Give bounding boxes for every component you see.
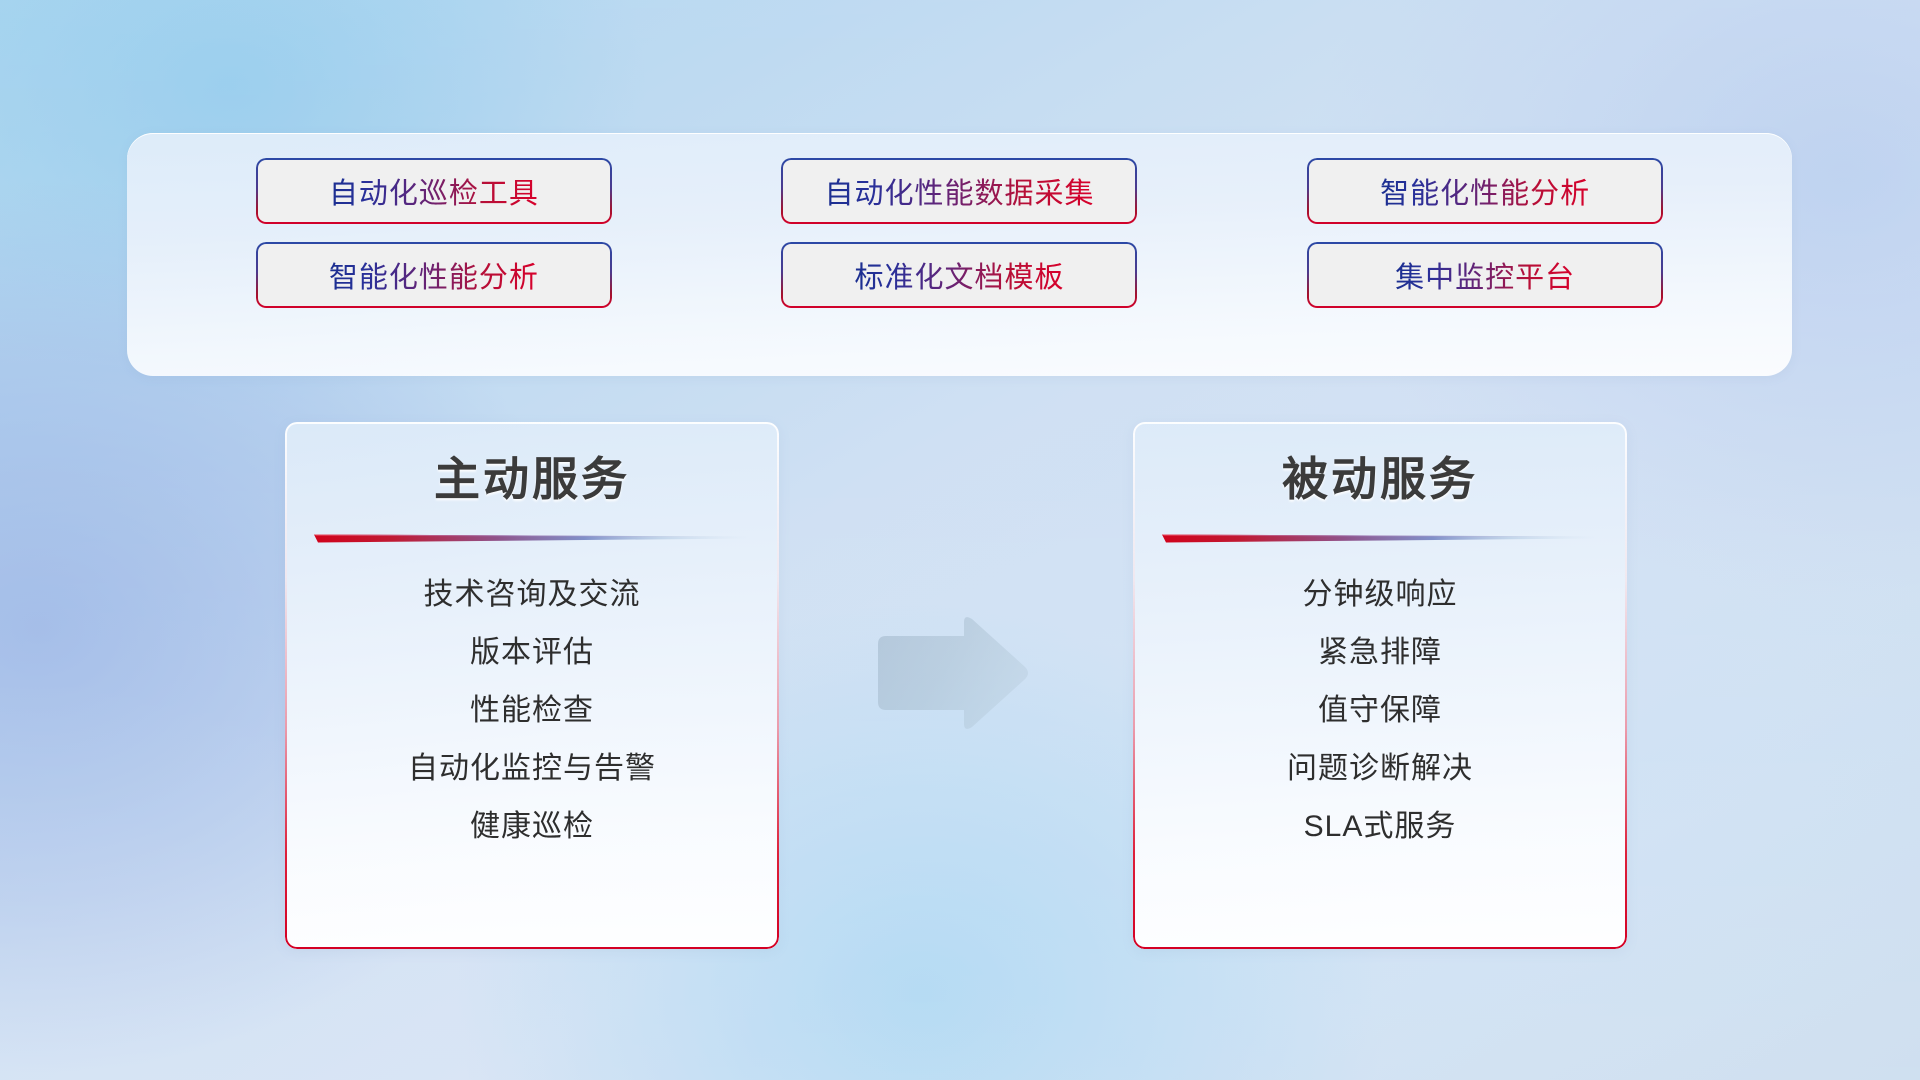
service-item: 值守保障 [1133, 682, 1627, 740]
card-title: 主动服务 [434, 451, 630, 509]
arrow-right-icon [872, 614, 1032, 732]
capability-tag-label: 智能化性能分析 [1380, 170, 1590, 212]
service-item: 分钟级响应 [1133, 566, 1627, 624]
service-item: 健康巡检 [285, 798, 779, 856]
title-divider [314, 527, 750, 549]
service-item-list: 技术咨询及交流 版本评估 性能检查 自动化监控与告警 健康巡检 [285, 566, 779, 856]
title-divider [1162, 527, 1598, 549]
capability-tag[interactable]: 智能化性能分析 [1307, 158, 1663, 224]
service-item: 自动化监控与告警 [285, 740, 779, 798]
capability-tag[interactable]: 智能化性能分析 [256, 242, 612, 308]
service-item: 性能检查 [285, 682, 779, 740]
divider-wedge-icon [314, 531, 750, 545]
capability-tag-label: 自动化巡检工具 [329, 170, 539, 212]
service-card-passive: 被动服务 [1133, 422, 1627, 949]
capability-tags-panel: 自动化巡检工具 自动化性能数据采集 智能化性能分析 智能化性能分析 标准化文档模… [127, 133, 1792, 376]
slide-canvas: 自动化巡检工具 自动化性能数据采集 智能化性能分析 智能化性能分析 标准化文档模… [0, 0, 1920, 1080]
capability-tag-label: 集中监控平台 [1395, 254, 1575, 296]
service-item: 紧急排障 [1133, 624, 1627, 682]
card-title: 被动服务 [1282, 451, 1478, 509]
capability-tag[interactable]: 自动化性能数据采集 [781, 158, 1137, 224]
service-card-active: 主动服务 [285, 422, 779, 949]
capability-tag-label: 智能化性能分析 [329, 254, 539, 296]
divider-wedge-icon [1162, 531, 1598, 545]
capability-tag-grid: 自动化巡检工具 自动化性能数据采集 智能化性能分析 智能化性能分析 标准化文档模… [127, 158, 1792, 308]
service-item-list: 分钟级响应 紧急排障 值守保障 问题诊断解决 SLA式服务 [1133, 566, 1627, 856]
capability-tag[interactable]: 集中监控平台 [1307, 242, 1663, 308]
service-item: 技术咨询及交流 [285, 566, 779, 624]
capability-tag-label: 标准化文档模板 [854, 254, 1064, 296]
service-item: SLA式服务 [1133, 798, 1627, 856]
capability-tag-label: 自动化性能数据采集 [824, 170, 1094, 212]
service-item: 问题诊断解决 [1133, 740, 1627, 798]
capability-tag[interactable]: 自动化巡检工具 [256, 158, 612, 224]
capability-tag[interactable]: 标准化文档模板 [781, 242, 1137, 308]
service-item: 版本评估 [285, 624, 779, 682]
